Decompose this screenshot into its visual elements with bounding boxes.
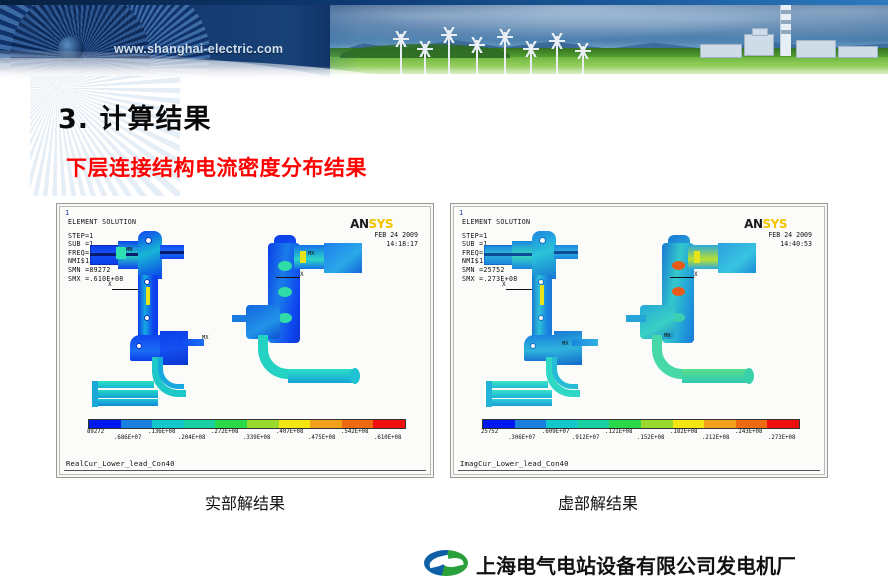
geometry-part bbox=[688, 245, 718, 269]
geometry-part bbox=[278, 313, 292, 323]
legend-tick: .212E+08 bbox=[702, 435, 729, 441]
plot-frame-number: 1 bbox=[65, 209, 69, 217]
legend-tick: .121E+08 bbox=[605, 429, 632, 435]
axis-line bbox=[670, 277, 694, 278]
legend-swatch bbox=[89, 420, 121, 428]
footer: 上海电气电站设备有限公司发电机厂 bbox=[0, 538, 888, 588]
plot-caption-imag: 虚部解结果 bbox=[558, 490, 638, 514]
geometry-part bbox=[294, 245, 324, 269]
legend-tick: .407E+08 bbox=[276, 429, 303, 435]
legend-swatch bbox=[641, 420, 673, 428]
geometry-hole bbox=[144, 279, 150, 285]
geometry-pipe bbox=[288, 369, 358, 383]
axis-label-x: X bbox=[300, 271, 304, 278]
geometry-part bbox=[300, 251, 306, 263]
legend-swatch bbox=[310, 420, 342, 428]
axis-label-x: X bbox=[694, 271, 698, 278]
geometry-pipe bbox=[96, 390, 158, 398]
legend-swatch bbox=[215, 420, 247, 428]
geometry-part bbox=[484, 253, 534, 256]
legend-tick: .136E+08 bbox=[148, 429, 175, 435]
geometry-pipe bbox=[490, 399, 552, 406]
ansys-logo: ANSYS bbox=[350, 217, 393, 231]
legend-color-bar bbox=[482, 419, 800, 429]
geometry-pipe bbox=[92, 381, 98, 407]
geometry-part bbox=[138, 275, 158, 341]
geometry-part bbox=[324, 243, 362, 273]
legend-tick: .243E+08 bbox=[735, 429, 762, 435]
legend-swatch bbox=[546, 420, 578, 428]
geometry-pipe bbox=[682, 369, 752, 383]
legend-swatch bbox=[483, 420, 515, 428]
geometry-pipe-end bbox=[350, 368, 360, 384]
shanghai-electric-logo-icon bbox=[424, 548, 468, 578]
page-title: 3. 计算结果 bbox=[58, 97, 211, 136]
legend-tick: .272E+08 bbox=[211, 429, 238, 435]
plot-frame-number: 1 bbox=[459, 209, 463, 217]
legend-tick-labels: 89272 .686E+07 .136E+08 .204E+08 .272E+0… bbox=[88, 429, 406, 442]
plot-canvas: 1 ELEMENT SOLUTIONSTEP=1 SUB =1 FREQ=50 … bbox=[59, 206, 431, 475]
legend-swatch bbox=[736, 420, 768, 428]
geometry-pipe bbox=[96, 381, 154, 388]
geometry-pipe bbox=[490, 381, 548, 388]
ansys-logo: ANSYS bbox=[744, 217, 787, 231]
legend-swatch bbox=[279, 420, 311, 428]
legend-tick: .152E+08 bbox=[637, 435, 664, 441]
legend-swatch bbox=[578, 420, 610, 428]
geometry-pipe bbox=[96, 399, 158, 406]
banner-top-strip bbox=[0, 0, 888, 5]
color-legend: 25752 .306E+07 .609E+07 .912E+07 .121E+0… bbox=[482, 419, 800, 442]
legend-tick: .686E+07 bbox=[114, 435, 141, 441]
legend-tick: .475E+08 bbox=[308, 435, 335, 441]
min-marker: MN bbox=[126, 247, 133, 253]
geometry-part bbox=[626, 315, 646, 322]
geometry-pipe bbox=[486, 381, 492, 407]
legend-tick: .306E+07 bbox=[508, 435, 535, 441]
legend-swatch bbox=[373, 420, 405, 428]
plot-filename-label: ImagCur_Lower_lead_Con40 bbox=[460, 459, 569, 468]
geometry-part bbox=[90, 253, 140, 256]
ansys-plot-real-part: 1 ELEMENT SOLUTIONSTEP=1 SUB =1 FREQ=50 … bbox=[56, 203, 434, 478]
legend-color-bar bbox=[88, 419, 406, 429]
ansys-logo-sys: SYS bbox=[763, 217, 787, 231]
geometry-hole bbox=[136, 343, 142, 349]
geometry-hole bbox=[145, 237, 152, 244]
geometry-part bbox=[246, 305, 280, 339]
axis-label-x: X bbox=[108, 281, 112, 288]
geometry-part bbox=[146, 287, 150, 305]
legend-tick: .182E+08 bbox=[670, 429, 697, 435]
legend-tick-max: .610E+08 bbox=[374, 435, 401, 441]
legend-tick-min: 89272 bbox=[87, 429, 104, 435]
geometry-part bbox=[672, 287, 685, 296]
legend-tick: .339E+08 bbox=[243, 435, 270, 441]
plot-filename-label: RealCur_Lower_lead_Con40 bbox=[66, 459, 175, 468]
axis-line bbox=[276, 277, 300, 278]
geometry-hole bbox=[530, 343, 536, 349]
ansys-logo-an: AN bbox=[744, 217, 762, 231]
geometry-part bbox=[672, 261, 685, 270]
legend-tick-max: .273E+08 bbox=[768, 435, 795, 441]
legend-tick: .912E+07 bbox=[572, 435, 599, 441]
geometry-pipe bbox=[490, 390, 552, 398]
slide: www.shanghai-electric.com 3. 计算结果 下层连接结构… bbox=[0, 0, 888, 588]
geometry-part bbox=[116, 247, 126, 259]
legend-swatch bbox=[247, 420, 279, 428]
ansys-logo-sys: SYS bbox=[369, 217, 393, 231]
geometry-part bbox=[572, 339, 598, 346]
model-3d-view: X MN bbox=[640, 231, 790, 421]
axis-label-x: X bbox=[502, 281, 506, 288]
geometry-part bbox=[540, 285, 544, 305]
legend-swatch bbox=[673, 420, 705, 428]
min-marker: MN bbox=[664, 333, 671, 339]
max-marker: MX bbox=[308, 251, 315, 257]
geometry-part bbox=[178, 339, 204, 346]
model-3d-view: X MX bbox=[246, 231, 396, 421]
legend-swatch bbox=[121, 420, 153, 428]
geometry-hole bbox=[539, 237, 546, 244]
geometry-pipe-end bbox=[744, 368, 754, 384]
geometry-hole bbox=[144, 315, 150, 321]
plot-bottom-rule bbox=[458, 470, 820, 471]
plot-caption-real: 实部解结果 bbox=[205, 490, 285, 514]
legend-tick: .542E+08 bbox=[341, 429, 368, 435]
model-section-view: X MN MX bbox=[90, 231, 220, 421]
legend-swatch bbox=[609, 420, 641, 428]
legend-swatch bbox=[515, 420, 547, 428]
axis-line bbox=[506, 289, 532, 290]
plot-canvas: 1 ELEMENT SOLUTIONSTEP=1 SUB =1 FREQ=50 … bbox=[453, 206, 825, 475]
ansys-logo-an: AN bbox=[350, 217, 368, 231]
axis-line bbox=[112, 289, 138, 290]
geometry-part bbox=[278, 261, 292, 271]
legend-tick-labels: 25752 .306E+07 .609E+07 .912E+07 .121E+0… bbox=[482, 429, 800, 442]
legend-swatch bbox=[767, 420, 799, 428]
legend-tick-min: 25752 bbox=[481, 429, 498, 435]
ansys-plot-imag-part: 1 ELEMENT SOLUTIONSTEP=1 SUB =1 FREQ=50 … bbox=[450, 203, 828, 478]
legend-swatch bbox=[704, 420, 736, 428]
legend-swatch bbox=[184, 420, 216, 428]
legend-tick: .204E+08 bbox=[178, 435, 205, 441]
geometry-part bbox=[694, 251, 700, 263]
geometry-part bbox=[232, 315, 252, 322]
footer-company-name: 上海电气电站设备有限公司发电机厂 bbox=[476, 550, 796, 579]
model-section-view: X MX bbox=[484, 231, 614, 421]
legend-swatch bbox=[342, 420, 374, 428]
max-marker: MX bbox=[202, 335, 209, 341]
geometry-part bbox=[718, 243, 756, 273]
page-subtitle: 下层连接结构电流密度分布结果 bbox=[66, 152, 367, 182]
header-banner: www.shanghai-electric.com bbox=[0, 0, 888, 84]
color-legend: 89272 .686E+07 .136E+08 .204E+08 .272E+0… bbox=[88, 419, 406, 442]
geometry-part bbox=[278, 287, 292, 297]
legend-tick: .609E+07 bbox=[542, 429, 569, 435]
plot-bottom-rule bbox=[64, 470, 426, 471]
geometry-part bbox=[160, 251, 184, 254]
geometry-hole bbox=[538, 315, 544, 321]
max-marker: MX bbox=[562, 341, 569, 347]
geometry-part bbox=[554, 251, 578, 254]
legend-swatch bbox=[152, 420, 184, 428]
